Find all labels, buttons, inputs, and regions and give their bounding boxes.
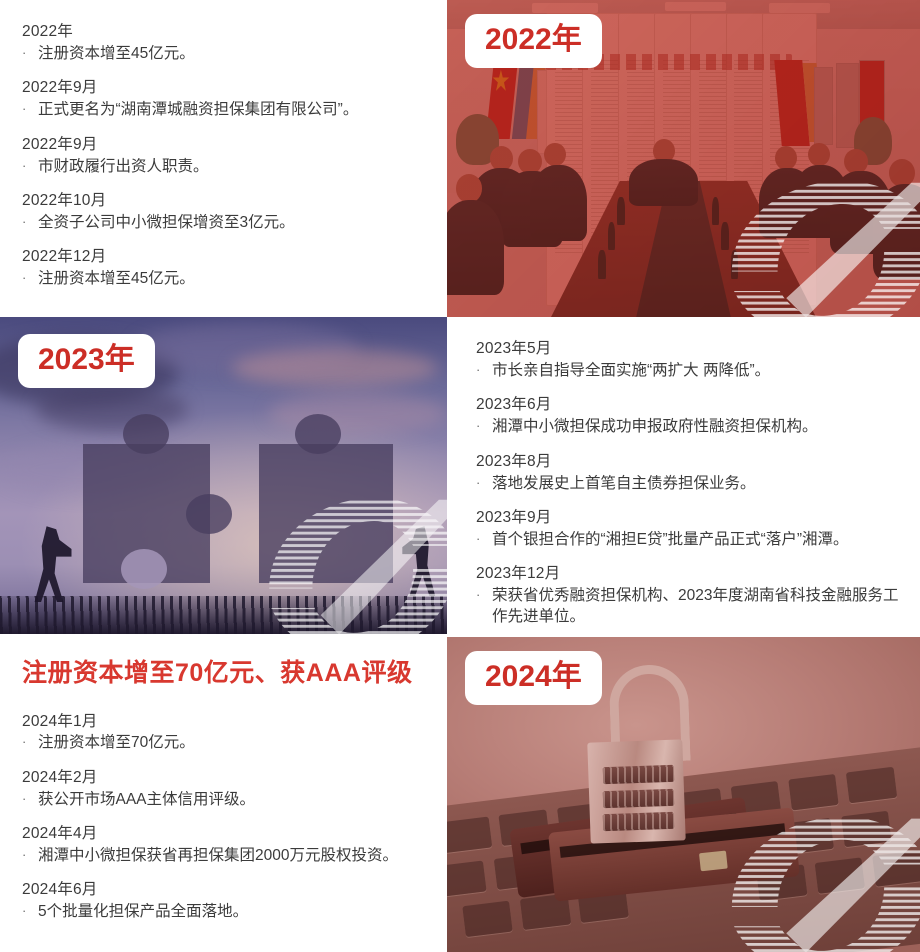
entry-text: 落地发展史上首笔自主债券担保业务。 [492,473,904,494]
panel-2024-image: 2024年 [447,637,920,952]
entry-body: · 市财政履行出资人职责。 [22,156,429,177]
entry-text: 正式更名为“湖南潭城融资担保集团有限公司”。 [38,99,429,120]
entry-date: 2023年8月 [476,452,904,473]
bullet-dot-icon: · [22,901,38,921]
timeline-entry: 2022年 · 注册资本增至45亿元。 [22,22,429,64]
entry-date: 2023年5月 [476,339,904,360]
entry-text: 获公开市场AAA主体信用评级。 [38,789,431,810]
puzzle-piece-left [83,444,210,583]
entry-body: · 落地发展史上首笔自主债券担保业务。 [476,473,904,494]
entry-body: · 注册资本增至70亿元。 [22,732,431,753]
timeline-entry: 2022年12月 · 注册资本增至45亿元。 [22,247,429,289]
timeline-entry: 2022年10月 · 全资子公司中小微担保增资至3亿元。 [22,191,429,233]
puzzle-piece-right [259,444,393,583]
panel-2023-text: 2023年5月 · 市长亲自指导全面实施“两扩大 两降低”。 2023年6月 ·… [447,317,920,634]
entry-text: 注册资本增至45亿元。 [38,268,429,289]
timeline-entry: 2023年9月 · 首个银担合作的“湘担E贷”批量产品正式“落户”湘潭。 [476,508,904,550]
timeline-entry: 2023年5月 · 市长亲自指导全面实施“两扩大 两降低”。 [476,339,904,381]
entry-body: · 荣获省优秀融资担保机构、2023年度湖南省科技金融服务工作先进单位。 [476,585,904,628]
panel-2022-image: 2022年 [447,0,920,317]
year-badge-2022: 2022年 [465,14,602,68]
panel-2023-image: 2023年 [0,317,447,634]
entry-date: 2022年12月 [22,247,429,268]
timeline-entry: 2023年6月 · 湘潭中小微担保成功申报政府性融资担保机构。 [476,395,904,437]
entry-text: 首个银担合作的“湘担E贷”批量产品正式“落户”湘潭。 [492,529,904,550]
bullet-dot-icon: · [22,99,38,119]
bullet-dot-icon: · [22,212,38,232]
combination-dial [603,812,674,832]
year-badge-2023: 2023年 [18,334,155,388]
entry-body: · 获公开市场AAA主体信用评级。 [22,789,431,810]
timeline-entry: 2023年8月 · 落地发展史上首笔自主债券担保业务。 [476,452,904,494]
timeline-entry: 2022年9月 · 市财政履行出资人职责。 [22,135,429,177]
bullet-dot-icon: · [476,529,492,549]
entry-body: · 湘潭中小微担保获省再担保集团2000万元股权投资。 [22,845,431,866]
bullet-dot-icon: · [22,268,38,288]
bullet-dot-icon: · [22,845,38,865]
section-title-2024: 注册资本增至70亿元、获AAA评级 [22,660,431,688]
entry-body: · 注册资本增至45亿元。 [22,268,429,289]
entry-text: 市长亲自指导全面实施“两扩大 两降低”。 [492,360,904,381]
combination-dial [603,765,674,785]
bullet-dot-icon: · [476,473,492,493]
entry-text: 湘潭中小微担保成功申报政府性融资担保机构。 [492,416,904,437]
bullet-dot-icon: · [22,156,38,176]
bullet-dot-icon: · [22,789,38,809]
entry-date: 2022年9月 [22,135,429,156]
combination-dial [603,789,674,809]
timeline-entry: 2024年4月 · 湘潭中小微担保获省再担保集团2000万元股权投资。 [22,824,431,866]
entry-text: 注册资本增至45亿元。 [38,43,429,64]
timeline-entry: 2024年2月 · 获公开市场AAA主体信用评级。 [22,768,431,810]
year-badge-2024: 2024年 [465,651,602,705]
entry-date: 2024年2月 [22,768,431,789]
bullet-dot-icon: · [22,732,38,752]
entry-date: 2024年1月 [22,712,431,733]
bullet-dot-icon: · [476,585,492,605]
entry-text: 注册资本增至70亿元。 [38,732,431,753]
person-pushing-left [31,526,71,602]
panel-2024-text: 注册资本增至70亿元、获AAA评级 2024年1月 · 注册资本增至70亿元。 … [0,634,447,952]
entry-date: 2024年4月 [22,824,431,845]
entry-body: · 全资子公司中小微担保增资至3亿元。 [22,212,429,233]
entry-body: · 首个银担合作的“湘担E贷”批量产品正式“落户”湘潭。 [476,529,904,550]
entry-body: · 正式更名为“湖南潭城融资担保集团有限公司”。 [22,99,429,120]
entry-text: 市财政履行出资人职责。 [38,156,429,177]
grass-silhouette [0,596,447,634]
panel-2022-text: 2022年 · 注册资本增至45亿元。 2022年9月 · 正式更名为“湖南潭城… [0,0,447,317]
entry-text: 全资子公司中小微担保增资至3亿元。 [38,212,429,233]
entry-date: 2023年6月 [476,395,904,416]
person-pushing-right [402,526,438,596]
entry-body: · 市长亲自指导全面实施“两扩大 两降低”。 [476,360,904,381]
entry-date: 2023年9月 [476,508,904,529]
entry-body: · 5个批量化担保产品全面落地。 [22,901,431,922]
entry-text: 5个批量化担保产品全面落地。 [38,901,431,922]
entry-date: 2022年9月 [22,78,429,99]
entry-body: · 湘潭中小微担保成功申报政府性融资担保机构。 [476,416,904,437]
timeline-entry: 2023年12月 · 荣获省优秀融资担保机构、2023年度湖南省科技金融服务工作… [476,564,904,628]
entry-date: 2022年10月 [22,191,429,212]
timeline-entry: 2024年1月 · 注册资本增至70亿元。 [22,712,431,754]
entry-text: 湘潭中小微担保获省再担保集团2000万元股权投资。 [38,845,431,866]
entry-date: 2024年6月 [22,880,431,901]
bullet-dot-icon: · [22,43,38,63]
entry-date: 2022年 [22,22,429,43]
timeline-entry: 2024年6月 · 5个批量化担保产品全面落地。 [22,880,431,922]
bullet-dot-icon: · [476,416,492,436]
timeline-entry: 2022年9月 · 正式更名为“湖南潭城融资担保集团有限公司”。 [22,78,429,120]
slide-root: 2022年 · 注册资本增至45亿元。 2022年9月 · 正式更名为“湖南潭城… [0,0,920,952]
entry-date: 2023年12月 [476,564,904,585]
bullet-dot-icon: · [476,360,492,380]
entry-body: · 注册资本增至45亿元。 [22,43,429,64]
entry-text: 荣获省优秀融资担保机构、2023年度湖南省科技金融服务工作先进单位。 [492,585,904,628]
